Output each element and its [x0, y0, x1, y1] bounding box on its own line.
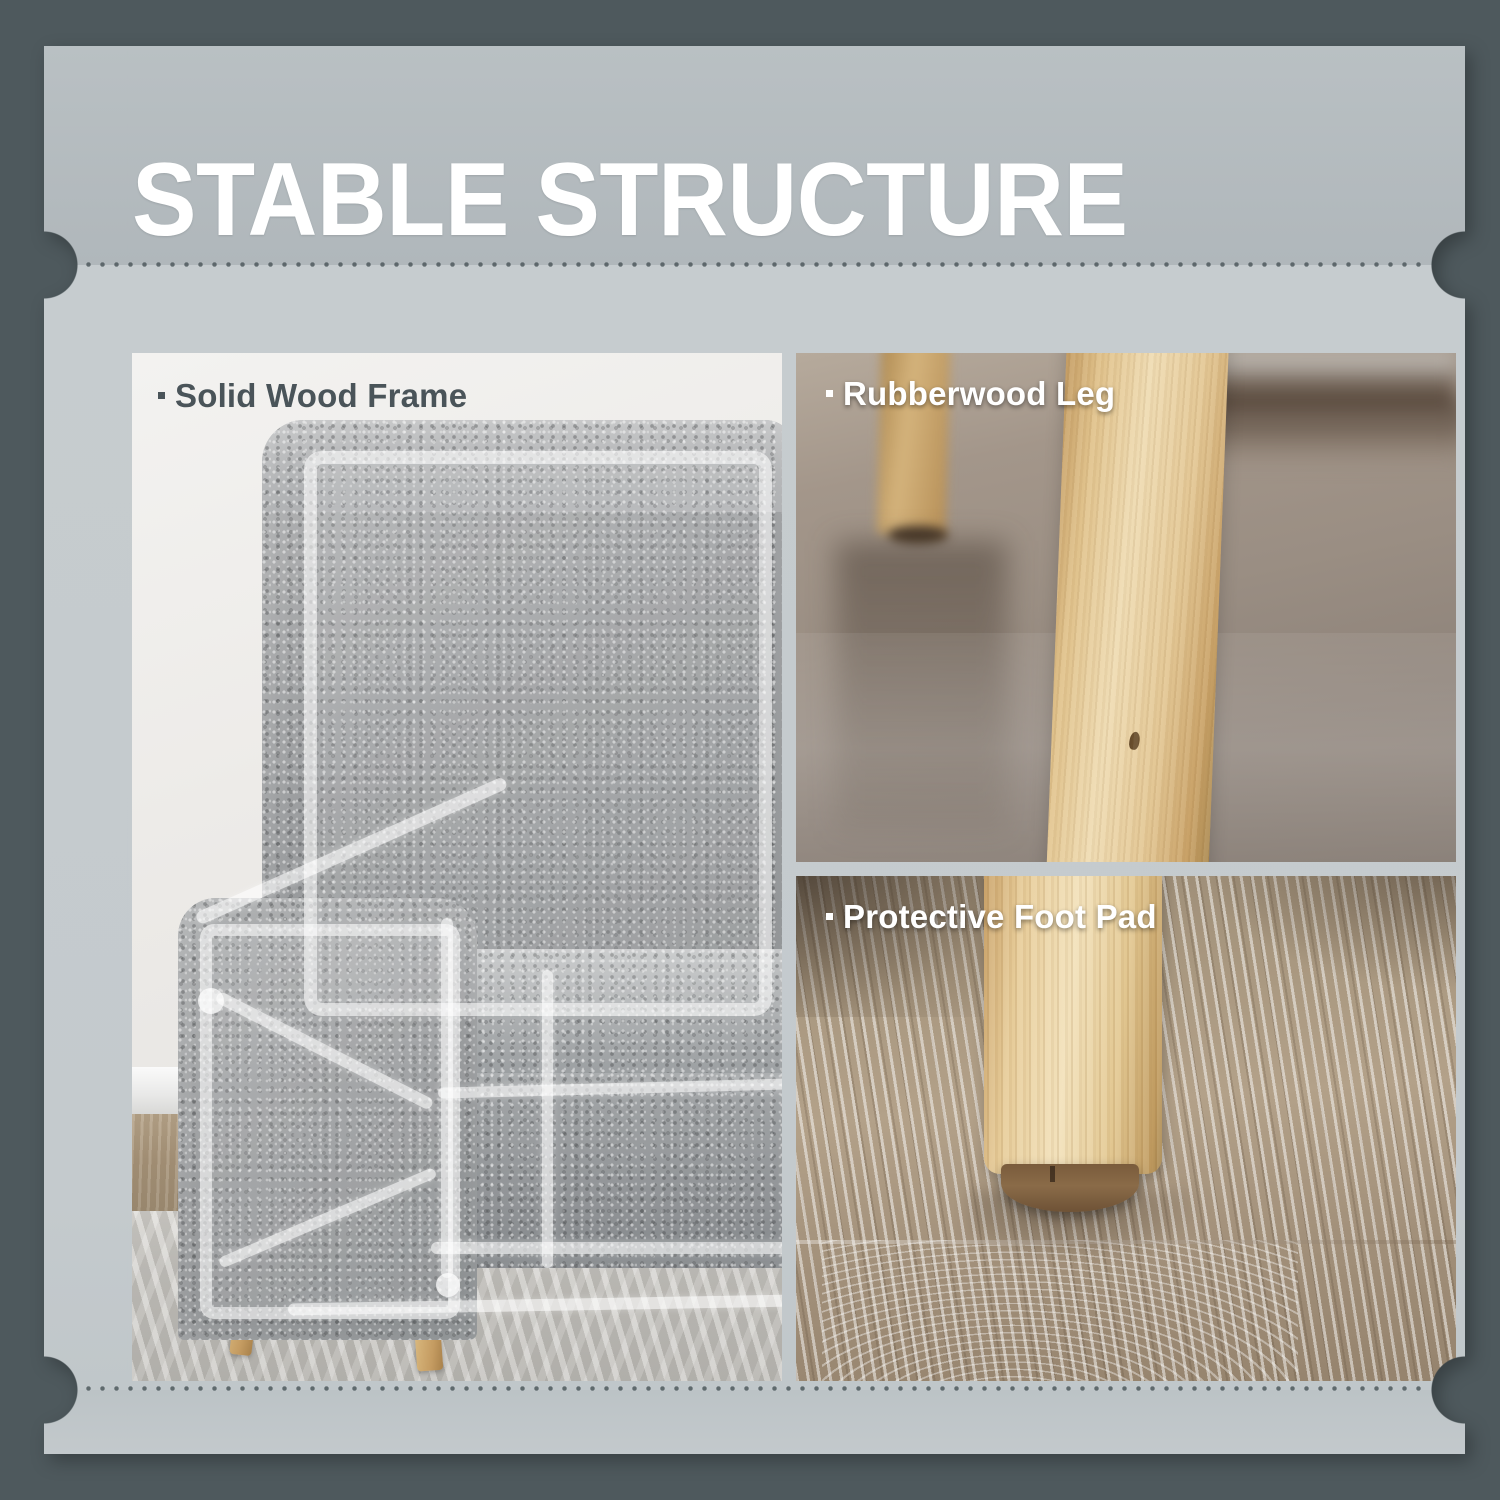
- leg-scene-blurred-band-secondary: [1192, 404, 1456, 455]
- panel-label-solid-wood-frame: Solid Wood Frame: [158, 377, 467, 415]
- panel-label-text: Solid Wood Frame: [175, 377, 467, 415]
- scene-shadow-top-right: [1205, 876, 1456, 987]
- ticket-footer-stub: [44, 1390, 1465, 1454]
- panel-solid-wood-frame[interactable]: Solid Wood Frame: [132, 353, 782, 1381]
- bullet-icon: [826, 913, 833, 920]
- panel-rubberwood-leg[interactable]: Rubberwood Leg: [796, 353, 1456, 862]
- bullet-icon: [826, 390, 833, 397]
- ticket-card: STABLE STRUCTURE: [44, 46, 1465, 1454]
- floor-grain-rings: [822, 1240, 1297, 1381]
- panel-protective-foot-pad[interactable]: Protective Foot Pad: [796, 876, 1456, 1381]
- frame-vertical-post-inner: [542, 970, 553, 1268]
- page-title: STABLE STRUCTURE: [132, 148, 1128, 252]
- wood-frame-overlay-diagram: [132, 353, 782, 1381]
- feature-panel-grid: Solid Wood Frame Rubberwood Leg: [132, 353, 1456, 1381]
- bullet-icon: [158, 392, 165, 399]
- frame-seat-rail-upper: [437, 1078, 782, 1098]
- frame-joint-node-corner: [436, 1273, 460, 1297]
- ticket-surface: STABLE STRUCTURE: [44, 46, 1465, 1454]
- panel-label-text: Protective Foot Pad: [843, 898, 1157, 936]
- perforation-line-top: [86, 262, 1424, 267]
- rubberwood-leg-closeup: [1046, 353, 1228, 862]
- panel-label-rubberwood-leg: Rubberwood Leg: [826, 375, 1115, 413]
- perforation-line-bottom: [86, 1386, 1424, 1391]
- wood-knot: [1127, 731, 1140, 750]
- panel-label-text: Rubberwood Leg: [843, 375, 1115, 413]
- panel-label-protective-foot-pad: Protective Foot Pad: [826, 898, 1157, 936]
- foot-pad-notch: [1050, 1166, 1055, 1182]
- frame-seat-rail-lower: [431, 1242, 782, 1254]
